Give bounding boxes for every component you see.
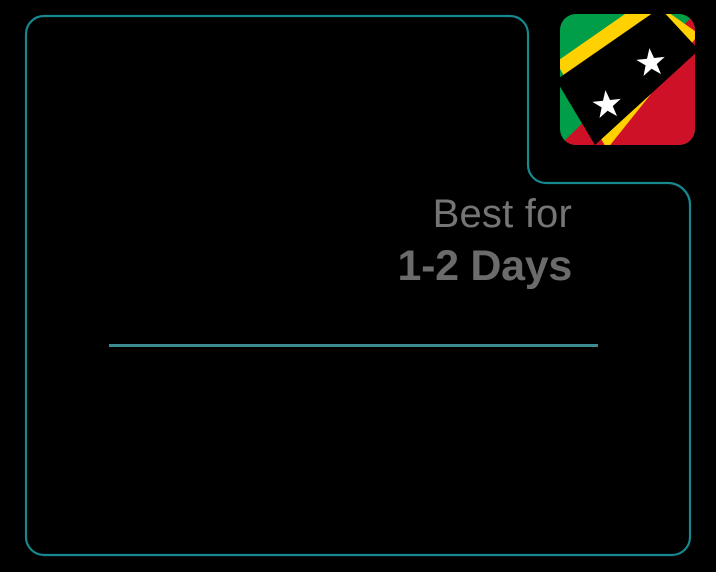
horizontal-divider	[109, 344, 598, 347]
best-for-label: Best for	[150, 192, 572, 237]
card-text-block: Best for 1-2 Days	[150, 192, 572, 290]
saint-kitts-and-nevis-flag-icon	[560, 14, 695, 145]
duration-value: 1-2 Days	[150, 243, 572, 290]
card-container: Best for 1-2 Days	[0, 0, 716, 572]
